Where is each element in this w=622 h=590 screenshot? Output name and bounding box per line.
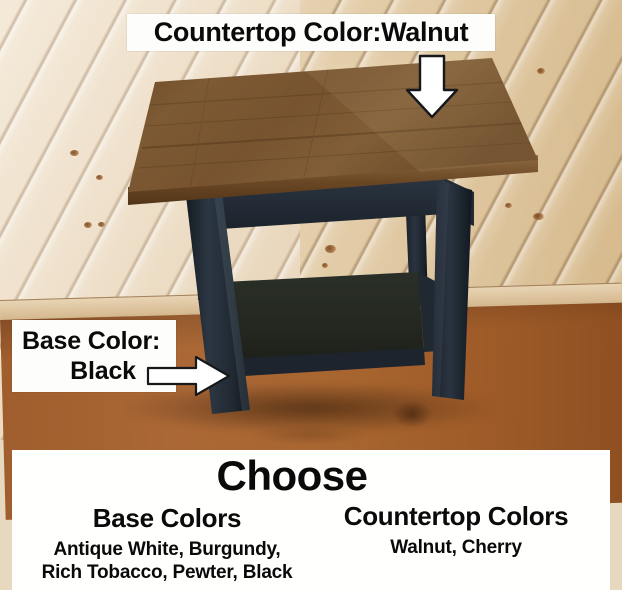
base-colors-heading: Base Colors <box>22 504 312 533</box>
countertop-colors-options-line1: Walnut, Cherry <box>308 536 604 559</box>
countertop-colors-column: Countertop Colors Walnut, Cherry <box>308 502 604 559</box>
wood-knot-icon <box>537 68 545 74</box>
wood-knot-icon <box>70 150 79 156</box>
base-colors-options-line2: Rich Tobacco, Pewter, Black <box>22 561 312 584</box>
wood-knot-icon <box>505 203 512 208</box>
wood-knot-icon <box>325 245 336 253</box>
product-photo-with-annotations: Countertop Color:Walnut Base Color: Blac… <box>0 0 622 590</box>
countertop-callout-text: Countertop Color:Walnut <box>154 17 469 48</box>
wood-knot-icon <box>322 263 328 268</box>
base-colors-column: Base Colors Antique White, Burgundy, Ric… <box>22 504 312 584</box>
countertop-color-callout: Countertop Color:Walnut <box>127 14 495 51</box>
wood-knot-icon <box>533 213 544 220</box>
base-colors-options-line1: Antique White, Burgundy, <box>22 538 312 561</box>
base-colors-options: Antique White, Burgundy, Rich Tobacco, P… <box>22 538 312 584</box>
base-callout-line1: Base Color: <box>22 326 160 357</box>
wood-knot-icon <box>515 122 522 127</box>
wood-knot-icon <box>98 222 105 227</box>
down-arrow-icon <box>404 54 460 120</box>
countertop-colors-options: Walnut, Cherry <box>308 536 604 559</box>
countertop-colors-heading: Countertop Colors <box>308 502 604 531</box>
wood-knot-icon <box>96 175 103 180</box>
right-arrow-icon <box>146 354 232 398</box>
base-callout-line2: Black <box>70 356 136 387</box>
wood-knot-icon <box>84 222 92 228</box>
panel-title: Choose <box>12 452 572 500</box>
options-panel: Choose Base Colors Antique White, Burgun… <box>12 450 610 590</box>
